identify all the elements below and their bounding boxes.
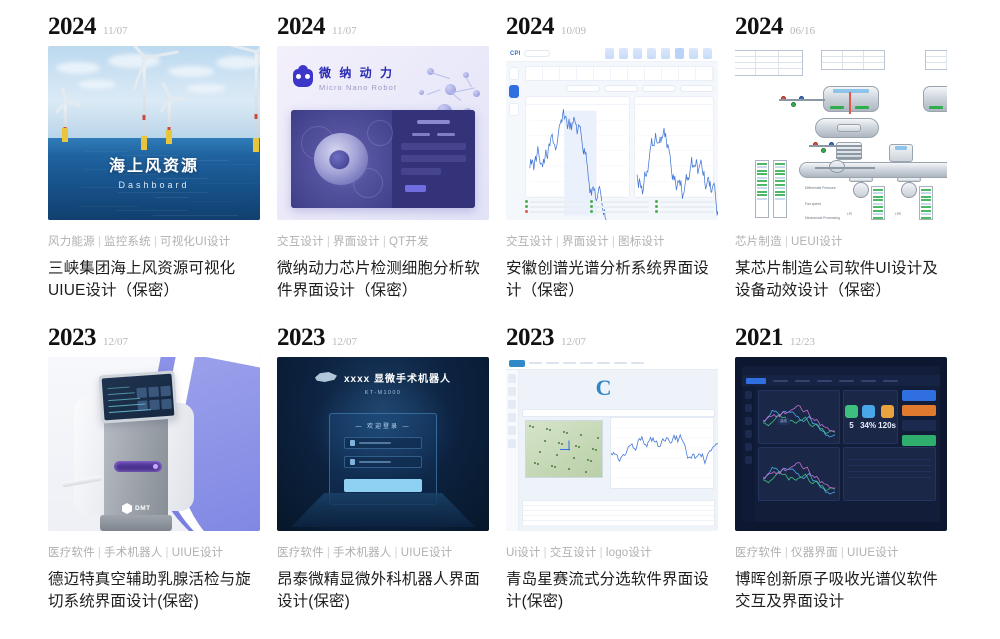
nav-icon bbox=[619, 48, 628, 59]
app-screenshot bbox=[291, 110, 475, 208]
sample-dot bbox=[597, 437, 599, 439]
app-logo-mark bbox=[746, 378, 766, 384]
password-placeholder bbox=[359, 461, 391, 464]
nucleus-shape bbox=[330, 150, 350, 169]
card-tag[interactable]: logo设计 bbox=[606, 547, 652, 559]
card-tag[interactable]: 图标设计 bbox=[618, 236, 665, 248]
turbine-band bbox=[143, 115, 146, 120]
wave-line bbox=[192, 201, 238, 202]
wave-line bbox=[48, 146, 78, 147]
legend-row bbox=[655, 200, 714, 203]
turbine-base bbox=[253, 138, 259, 152]
sample-dot bbox=[537, 463, 539, 465]
card-title[interactable]: 博晖创新原子吸收光谱仪软件交互及界面设计 bbox=[735, 569, 940, 613]
stage-floor bbox=[291, 493, 475, 527]
device-logo: DMT bbox=[122, 503, 151, 514]
card-tag[interactable]: 医疗软件 bbox=[735, 547, 782, 559]
nav-icon bbox=[605, 48, 614, 59]
waveform-line bbox=[108, 398, 140, 401]
sample-dot bbox=[546, 428, 548, 430]
brand-title: xxxx 显微手术机器人 bbox=[344, 370, 451, 385]
sample-dot bbox=[534, 462, 536, 464]
data-table bbox=[735, 50, 803, 76]
card-tag[interactable]: UEUI设计 bbox=[791, 236, 843, 248]
card-year: 2021 bbox=[735, 325, 783, 350]
decor-ring bbox=[367, 120, 393, 146]
legend-row bbox=[655, 205, 714, 208]
card-date: 11/07 bbox=[103, 26, 128, 37]
nav-icon bbox=[689, 48, 698, 59]
card-tag[interactable]: UIUE设计 bbox=[847, 547, 899, 559]
legend-line bbox=[660, 211, 714, 213]
waveform-line bbox=[107, 387, 129, 390]
card-header: 2024 11/07 bbox=[40, 14, 267, 46]
sample-dot bbox=[578, 446, 580, 448]
toolbar-item bbox=[529, 362, 542, 364]
sample-dot bbox=[563, 431, 565, 433]
filter-chips bbox=[566, 85, 714, 92]
kpi-item: 34% bbox=[860, 405, 876, 430]
lock-icon bbox=[350, 459, 355, 465]
turbine-base bbox=[166, 130, 172, 144]
filter-chip bbox=[604, 85, 638, 92]
diagram-label: Mechanical Processing bbox=[805, 216, 840, 220]
nav-icon bbox=[661, 48, 670, 59]
topnav-item bbox=[817, 380, 832, 382]
password-field[interactable] bbox=[344, 456, 422, 468]
device-monitor[interactable] bbox=[98, 370, 177, 423]
card-tag[interactable]: 芯片制造 bbox=[735, 236, 782, 248]
legend-line bbox=[530, 201, 584, 203]
tag-separator: | bbox=[609, 236, 618, 248]
card-header: 2023 12/07 bbox=[269, 325, 496, 357]
legend-dot bbox=[655, 205, 658, 208]
tag-separator: | bbox=[541, 547, 550, 559]
chamber-indicator bbox=[833, 89, 869, 93]
monitor-screen bbox=[102, 374, 175, 421]
turbine-blade bbox=[66, 101, 81, 107]
molecule-bond bbox=[466, 78, 472, 87]
panel-header bbox=[635, 97, 713, 105]
turbine-mast bbox=[255, 52, 258, 152]
sample-dot bbox=[539, 451, 541, 453]
filter-chip bbox=[642, 85, 676, 92]
card-date: 06/16 bbox=[790, 26, 815, 37]
param-cell bbox=[560, 67, 577, 80]
card-tag[interactable]: 手术机器人 bbox=[104, 547, 163, 559]
card-date: 12/07 bbox=[332, 337, 357, 348]
app-topbar bbox=[742, 375, 940, 386]
app-toolbar bbox=[506, 357, 718, 370]
app-sidebar bbox=[506, 370, 519, 531]
toolbar-item bbox=[614, 362, 627, 364]
action-button-group bbox=[902, 390, 936, 450]
multi-series-plot bbox=[763, 400, 835, 440]
pump-circle bbox=[853, 182, 869, 198]
multi-series-plot bbox=[763, 457, 835, 497]
sidebar-icon bbox=[508, 387, 516, 396]
pump-mount bbox=[849, 177, 873, 182]
wave-line bbox=[153, 215, 238, 216]
card-date: 12/07 bbox=[561, 337, 586, 348]
thumb-caption: 海上风资源 Dashboard bbox=[48, 152, 260, 190]
param-cell bbox=[645, 67, 662, 80]
card-tag[interactable]: 交互设计 bbox=[550, 547, 597, 559]
sample-dot bbox=[558, 442, 560, 444]
sample-dot bbox=[568, 468, 570, 470]
crosshair-icon bbox=[569, 441, 570, 451]
sidebar-icon bbox=[508, 374, 516, 383]
card-thumbnail-offshore-wind-dashboard[interactable]: 海上风资源 Dashboard bbox=[48, 46, 260, 220]
card-thumbnail-medical-cart-device[interactable]: DMT bbox=[48, 357, 260, 531]
action-button[interactable] bbox=[902, 420, 936, 431]
card-title[interactable]: 某芯片制造公司软件UI设计及设备动效设计（保密） bbox=[735, 258, 940, 302]
kpi-icon bbox=[862, 405, 875, 418]
topnav-item bbox=[773, 380, 788, 382]
card-header: 2021 12/23 bbox=[727, 325, 954, 357]
bar-meter bbox=[755, 160, 769, 218]
molecule-bond bbox=[453, 87, 475, 93]
app-toolbar: CPI bbox=[506, 46, 718, 62]
brand-model: KT-M1000 bbox=[277, 390, 489, 396]
legend-row bbox=[525, 210, 584, 213]
card-thumbnail-chip-process-diagram[interactable]: Differential PressureFan speedLPILPEMech… bbox=[735, 46, 947, 220]
tag-separator: | bbox=[151, 236, 160, 248]
turbine-base bbox=[141, 136, 147, 150]
device-slot bbox=[114, 461, 162, 472]
portfolio-card-7[interactable]: 2023 12/07 C Ui设计|交互设计|logo设计 青岛星赛流式分选软件… bbox=[498, 325, 725, 636]
transfer-rail bbox=[815, 167, 875, 169]
nav-icon bbox=[633, 48, 642, 59]
action-button[interactable] bbox=[902, 390, 936, 401]
card-title[interactable]: 德迈特真空辅助乳腺活检与旋切系统界面设计(保密) bbox=[48, 569, 253, 613]
card-thumbnail-dark-analytics-dashboard[interactable]: 曲线 曲线 5 34% 120s bbox=[735, 357, 947, 531]
legend-row bbox=[590, 210, 649, 213]
card-title[interactable]: 安徽创谱光谱分析系统界面设计（保密） bbox=[506, 258, 711, 302]
sample-dot bbox=[580, 434, 582, 436]
card-tag[interactable]: 界面设计 bbox=[333, 236, 380, 248]
diagram-label: LPE bbox=[895, 212, 901, 217]
sample-dot bbox=[575, 445, 577, 447]
topnav-item bbox=[795, 380, 810, 382]
legend-row bbox=[525, 200, 584, 203]
tag-separator: | bbox=[380, 236, 389, 248]
card-year: 2024 bbox=[277, 14, 325, 39]
signal-chart bbox=[610, 417, 714, 489]
portfolio-card-5[interactable]: 2023 12/07 DMT 医疗软件|手术机器人|UIUE设计 德迈特真空辅助… bbox=[40, 325, 267, 636]
param-cell bbox=[696, 67, 713, 80]
login-header: xxxx 显微手术机器人 KT-M1000 bbox=[277, 369, 489, 396]
sample-dot bbox=[561, 443, 563, 445]
panel-header bbox=[526, 97, 629, 105]
card-tag[interactable]: 界面设计 bbox=[562, 236, 609, 248]
sample-dot bbox=[551, 465, 553, 467]
wind-turbine bbox=[50, 102, 80, 142]
screen-tile bbox=[136, 387, 147, 398]
bar-meter bbox=[871, 186, 885, 220]
status-bar bbox=[830, 106, 844, 109]
portfolio-card-3[interactable]: 2024 10/09 CPI 交互设计|界面设计|图标设 bbox=[498, 14, 725, 325]
chart-panel bbox=[634, 96, 714, 198]
app-sidebar bbox=[742, 386, 755, 522]
sample-dot bbox=[587, 459, 589, 461]
action-button[interactable] bbox=[902, 435, 936, 446]
sidebar-icon bbox=[745, 456, 752, 464]
sample-dot bbox=[573, 457, 575, 459]
legend-line bbox=[660, 206, 714, 208]
tag-separator: | bbox=[163, 547, 172, 559]
param-cell bbox=[628, 67, 645, 80]
sidebar-icon bbox=[745, 391, 752, 399]
sidebar-icon bbox=[508, 439, 516, 448]
sidebar-icon bbox=[508, 426, 516, 435]
topnav-item bbox=[861, 380, 876, 382]
sidebar-icon bbox=[508, 400, 516, 409]
results-table bbox=[522, 500, 715, 526]
status-bar bbox=[855, 106, 869, 109]
portfolio-card-1[interactable]: 2024 11/07 海上风资源 Dashboard bbox=[40, 14, 267, 325]
portfolio-grid: 2024 11/07 海上风资源 Dashboard bbox=[0, 0, 1000, 636]
screen-tile bbox=[161, 399, 172, 410]
captcha-box bbox=[405, 185, 426, 192]
slot-led bbox=[153, 464, 158, 469]
login-pane bbox=[392, 110, 475, 208]
tag-separator: | bbox=[597, 547, 606, 559]
kpi-card: 5 34% 120s bbox=[843, 390, 898, 444]
brand-watermark: C bbox=[596, 375, 612, 401]
legend-row bbox=[655, 210, 714, 213]
portfolio-card-2[interactable]: 2024 11/07 微 纳 动 力 Micro Nano Robot bbox=[269, 14, 496, 325]
turbine-base bbox=[62, 128, 68, 142]
card-tag[interactable]: 交互设计 bbox=[506, 236, 553, 248]
sample-dot bbox=[549, 429, 551, 431]
card-tag[interactable]: 医疗软件 bbox=[48, 547, 95, 559]
action-button[interactable] bbox=[902, 405, 936, 416]
tag-separator: | bbox=[782, 547, 791, 559]
molecule-node bbox=[473, 90, 480, 97]
screen-tile bbox=[160, 386, 171, 397]
sample-dot bbox=[566, 432, 568, 434]
portfolio-card-8[interactable]: 2021 12/23 曲线 曲线 5 34% 120s 医疗软件|仪器界面|UI… bbox=[727, 325, 954, 636]
sidebar-icon bbox=[745, 417, 752, 425]
toolbar-item bbox=[563, 362, 576, 364]
toolbar-nav bbox=[605, 48, 712, 59]
card-tag[interactable]: 仪器界面 bbox=[791, 547, 838, 559]
legend-dot bbox=[590, 205, 593, 208]
gas-line bbox=[809, 145, 839, 147]
signal-plot bbox=[611, 418, 718, 488]
card-tag[interactable]: UIUE设计 bbox=[401, 547, 453, 559]
sidebar-item bbox=[509, 103, 519, 116]
card-tags: Ui设计|交互设计|logo设计 bbox=[506, 544, 725, 560]
legend-line bbox=[660, 201, 714, 203]
pump-circle bbox=[901, 182, 917, 198]
card-tag[interactable]: QT开发 bbox=[389, 236, 429, 248]
card-tags: 风力能源|监控系统|可视化UI设计 bbox=[48, 233, 267, 249]
card-year: 2023 bbox=[506, 325, 554, 350]
device-base bbox=[100, 515, 172, 531]
app-logo-mark bbox=[509, 360, 525, 367]
chart-panel bbox=[525, 96, 630, 198]
filter-chip bbox=[680, 85, 714, 92]
pump-fin bbox=[836, 145, 862, 147]
app-sidebar bbox=[506, 62, 522, 220]
sample-dot bbox=[590, 460, 592, 462]
brand-logo: 微 纳 动 力 Micro Nano Robot bbox=[293, 64, 397, 92]
chart-tag: 曲线 bbox=[777, 418, 790, 425]
card-tags: 芯片制造|UEUI设计 bbox=[735, 233, 954, 249]
portfolio-card-6[interactable]: 2023 12/07 xxxx 显微手术机器人 KT-M1000 — 欢迎登录 … bbox=[269, 325, 496, 636]
hexagon-icon bbox=[122, 503, 132, 514]
card-year: 2023 bbox=[277, 325, 325, 350]
topnav-item bbox=[839, 380, 854, 382]
app-window: 曲线 曲线 5 34% 120s bbox=[742, 366, 940, 522]
sidebar-icon bbox=[745, 443, 752, 451]
legend-dot bbox=[655, 210, 658, 213]
login-submit-button[interactable] bbox=[344, 479, 422, 492]
kpi-icon bbox=[881, 405, 894, 418]
sidebar-item bbox=[509, 85, 519, 98]
wind-turbine bbox=[152, 98, 186, 144]
card-title[interactable]: 青岛星赛流式分选软件界面设计(保密) bbox=[506, 569, 711, 613]
sample-dot bbox=[544, 440, 546, 442]
login-input bbox=[401, 155, 466, 162]
card-header: 2023 12/07 bbox=[40, 325, 267, 357]
sample-dot bbox=[554, 466, 556, 468]
card-header: 2024 10/09 bbox=[498, 14, 725, 46]
card-year: 2023 bbox=[48, 325, 96, 350]
card-year: 2024 bbox=[735, 14, 783, 39]
username-field[interactable] bbox=[344, 437, 422, 449]
sample-dot bbox=[592, 448, 594, 450]
diagram-label: Fan speed bbox=[805, 202, 821, 207]
tag-separator: | bbox=[553, 236, 562, 248]
card-tag[interactable]: 手术机器人 bbox=[333, 547, 392, 559]
card-thumbnail-flow-cytometry-software[interactable]: C bbox=[506, 357, 718, 531]
wave-line bbox=[79, 206, 138, 207]
username-placeholder bbox=[359, 442, 391, 445]
legend-line bbox=[595, 211, 649, 213]
sample-dot bbox=[532, 426, 534, 428]
toolbar-item bbox=[580, 362, 593, 364]
card-thumbnail-surgical-robot-login[interactable]: xxxx 显微手术机器人 KT-M1000 — 欢迎登录 — bbox=[277, 357, 489, 531]
legend-row bbox=[590, 200, 649, 203]
cloud-shape bbox=[56, 62, 100, 74]
turbine-blade bbox=[170, 97, 187, 101]
pump-fin bbox=[836, 149, 862, 151]
kpi-value: 120s bbox=[878, 421, 896, 430]
wave-line bbox=[118, 192, 208, 193]
table-card bbox=[843, 447, 936, 501]
card-date: 11/07 bbox=[332, 26, 357, 37]
table-row bbox=[523, 521, 714, 526]
card-title[interactable]: 三峡集团海上风资源可视化UIUE设计（保密） bbox=[48, 258, 253, 302]
chart-card: 曲线 bbox=[758, 390, 840, 444]
card-tag[interactable]: 可视化UI设计 bbox=[160, 236, 230, 248]
card-tag[interactable]: 风力能源 bbox=[48, 236, 95, 248]
thumb-caption-en: Dashboard bbox=[48, 180, 260, 190]
card-tag[interactable]: Ui设计 bbox=[506, 547, 541, 559]
card-title[interactable]: 昂泰微精显微外科机器人界面设计(保密) bbox=[277, 569, 482, 613]
tag-separator: | bbox=[838, 547, 847, 559]
login-input bbox=[401, 168, 441, 175]
screen-tile bbox=[148, 387, 159, 398]
data-table bbox=[821, 50, 885, 70]
pump-fin bbox=[836, 157, 862, 159]
turbine-band bbox=[255, 114, 258, 119]
tag-separator: | bbox=[324, 236, 333, 248]
parameter-bar bbox=[525, 66, 714, 81]
sample-dot bbox=[585, 471, 587, 473]
tag-separator: | bbox=[95, 547, 104, 559]
molecule-node bbox=[419, 90, 424, 95]
login-tabs bbox=[401, 133, 466, 136]
toolbar-pill bbox=[524, 50, 550, 57]
sidebar-item bbox=[509, 67, 519, 80]
legend-dot bbox=[590, 200, 593, 203]
card-date: 12/07 bbox=[103, 337, 128, 348]
tag-separator: | bbox=[392, 547, 401, 559]
tag-separator: | bbox=[324, 547, 333, 559]
card-tags: 交互设计|界面设计|QT开发 bbox=[277, 233, 496, 249]
card-title[interactable]: 微纳动力芯片检测细胞分析软件界面设计（保密） bbox=[277, 258, 482, 302]
login-input bbox=[401, 143, 466, 150]
param-cell bbox=[577, 67, 594, 80]
toolbar-item bbox=[631, 362, 644, 364]
screen-tile bbox=[137, 400, 148, 411]
sidebar-icon bbox=[745, 404, 752, 412]
card-tag[interactable]: 监控系统 bbox=[104, 236, 151, 248]
status-bar bbox=[929, 106, 943, 109]
wind-turbine bbox=[216, 52, 260, 152]
card-thumbnail-micro-nano-robot-login[interactable]: 微 纳 动 力 Micro Nano Robot bbox=[277, 46, 489, 220]
nav-icon bbox=[675, 48, 684, 59]
card-tags: 医疗软件|手术机器人|UIUE设计 bbox=[277, 544, 496, 560]
data-row bbox=[848, 472, 931, 478]
window-title-bar bbox=[522, 409, 715, 417]
kpi-item: 120s bbox=[878, 405, 896, 430]
card-tag[interactable]: 交互设计 bbox=[277, 236, 324, 248]
app-brand: CPI bbox=[510, 51, 521, 57]
card-thumbnail-spectrum-analysis-dashboard[interactable]: CPI bbox=[506, 46, 718, 220]
toolbar-item bbox=[546, 362, 559, 364]
legend-dot bbox=[525, 200, 528, 203]
legend-line bbox=[530, 211, 584, 213]
sample-image-view bbox=[525, 420, 603, 478]
topnav-item bbox=[883, 380, 898, 382]
legend-line bbox=[595, 206, 649, 208]
card-tag[interactable]: UIUE设计 bbox=[172, 547, 224, 559]
kpi-icon bbox=[845, 405, 858, 418]
card-tag[interactable]: 医疗软件 bbox=[277, 547, 324, 559]
legend-dot bbox=[525, 205, 528, 208]
valve-icon bbox=[791, 102, 796, 107]
param-cell bbox=[611, 67, 628, 80]
brand-name-cn: 微 纳 动 力 bbox=[319, 64, 397, 81]
portfolio-card-4[interactable]: 2024 06/16 Differential PressureFan spee… bbox=[727, 14, 954, 325]
tag-separator: | bbox=[782, 236, 791, 248]
legend-line bbox=[595, 201, 649, 203]
waveform-line bbox=[108, 392, 135, 395]
thumb-caption-cn: 海上风资源 bbox=[48, 152, 260, 176]
legend-dot bbox=[525, 210, 528, 213]
card-date: 12/23 bbox=[790, 337, 815, 348]
legend-row bbox=[525, 205, 584, 208]
pump-mount bbox=[897, 177, 921, 182]
card-tags: 医疗软件|仪器界面|UIUE设计 bbox=[735, 544, 954, 560]
login-panel[interactable]: — 欢迎登录 — bbox=[329, 413, 437, 505]
wave-line bbox=[155, 197, 188, 198]
